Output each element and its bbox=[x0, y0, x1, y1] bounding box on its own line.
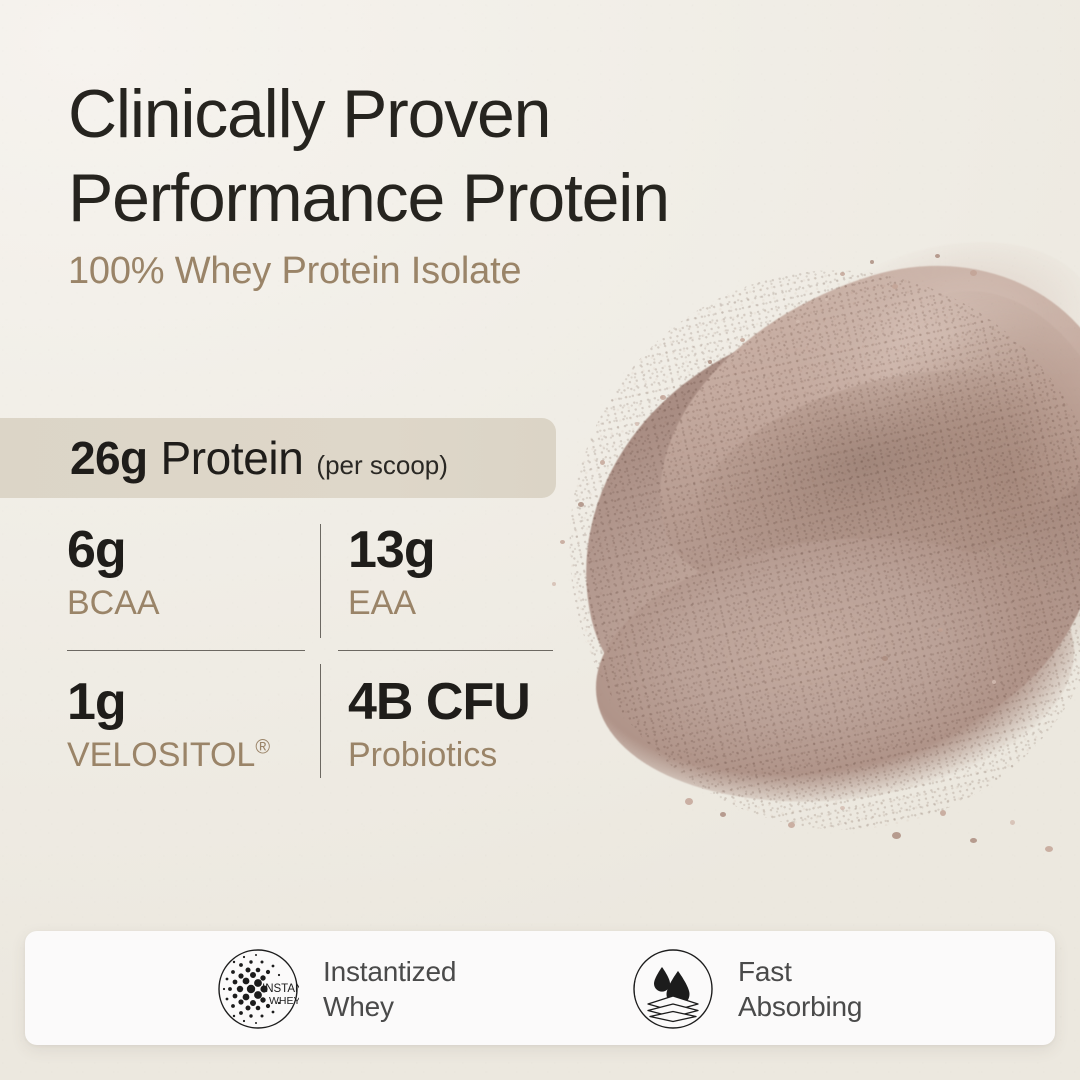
grid-divider-horizontal-right bbox=[338, 650, 553, 651]
feature-label: Instantized Whey bbox=[323, 954, 456, 1024]
protein-highlight-bar: 26g Protein (per scoop) bbox=[0, 418, 556, 498]
grid-divider-vertical-bottom bbox=[320, 664, 321, 778]
stat-value: 4B CFU bbox=[348, 674, 573, 730]
protein-powder-photo bbox=[540, 210, 1080, 890]
fast-absorbing-droplet-layers-icon bbox=[632, 948, 714, 1030]
protein-label: Protein bbox=[160, 431, 303, 485]
stat-value: 13g bbox=[348, 522, 573, 578]
page-title: Clinically Proven Performance Protein bbox=[68, 72, 908, 240]
feature-label-line-1: Instantized bbox=[323, 954, 456, 989]
registered-trademark-icon: ® bbox=[255, 737, 270, 759]
instant-whey-text-bottom: WHEY bbox=[269, 995, 299, 1007]
headline-line-1: Clinically Proven bbox=[68, 72, 908, 156]
stat-eaa: 13g EAA bbox=[348, 522, 573, 624]
feature-label-line-2: Absorbing bbox=[738, 989, 862, 1024]
headline-line-2: Performance Protein bbox=[68, 156, 908, 240]
instant-whey-text-top: INSTANT bbox=[262, 983, 299, 995]
feature-label-line-1: Fast bbox=[738, 954, 862, 989]
stat-label: BCAA bbox=[67, 582, 292, 624]
stat-bcaa: 6g BCAA bbox=[67, 522, 292, 624]
stat-velositol: 1g VELOSITOL® bbox=[67, 674, 292, 776]
feature-label-line-2: Whey bbox=[323, 989, 456, 1024]
page-subtitle: 100% Whey Protein Isolate bbox=[68, 248, 521, 294]
protein-amount: 26g bbox=[70, 431, 147, 485]
grid-divider-horizontal-left bbox=[67, 650, 305, 651]
stat-value: 6g bbox=[67, 522, 292, 578]
grid-divider-vertical-top bbox=[320, 524, 321, 638]
feature-label: Fast Absorbing bbox=[738, 954, 862, 1024]
nutrition-stats-grid: 6g BCAA 13g EAA 1g VELOSITOL® 4B CFU Pro… bbox=[67, 522, 553, 780]
stat-value: 1g bbox=[67, 674, 292, 730]
stat-probiotics: 4B CFU Probiotics bbox=[348, 674, 573, 776]
instant-whey-badge-icon: INSTANT WHEY bbox=[217, 948, 299, 1030]
product-infographic: Clinically Proven Performance Protein 10… bbox=[0, 0, 1080, 1080]
stat-label: Probiotics bbox=[348, 734, 573, 776]
feature-instantized-whey: INSTANT WHEY Instantized Whey bbox=[217, 948, 456, 1030]
protein-serving-note: (per scoop) bbox=[316, 450, 448, 481]
feature-fast-absorbing: Fast Absorbing bbox=[632, 948, 862, 1030]
stat-label: VELOSITOL® bbox=[67, 734, 292, 776]
stat-label: EAA bbox=[348, 582, 573, 624]
feature-badge-card: INSTANT WHEY Instantized Whey bbox=[25, 931, 1055, 1045]
